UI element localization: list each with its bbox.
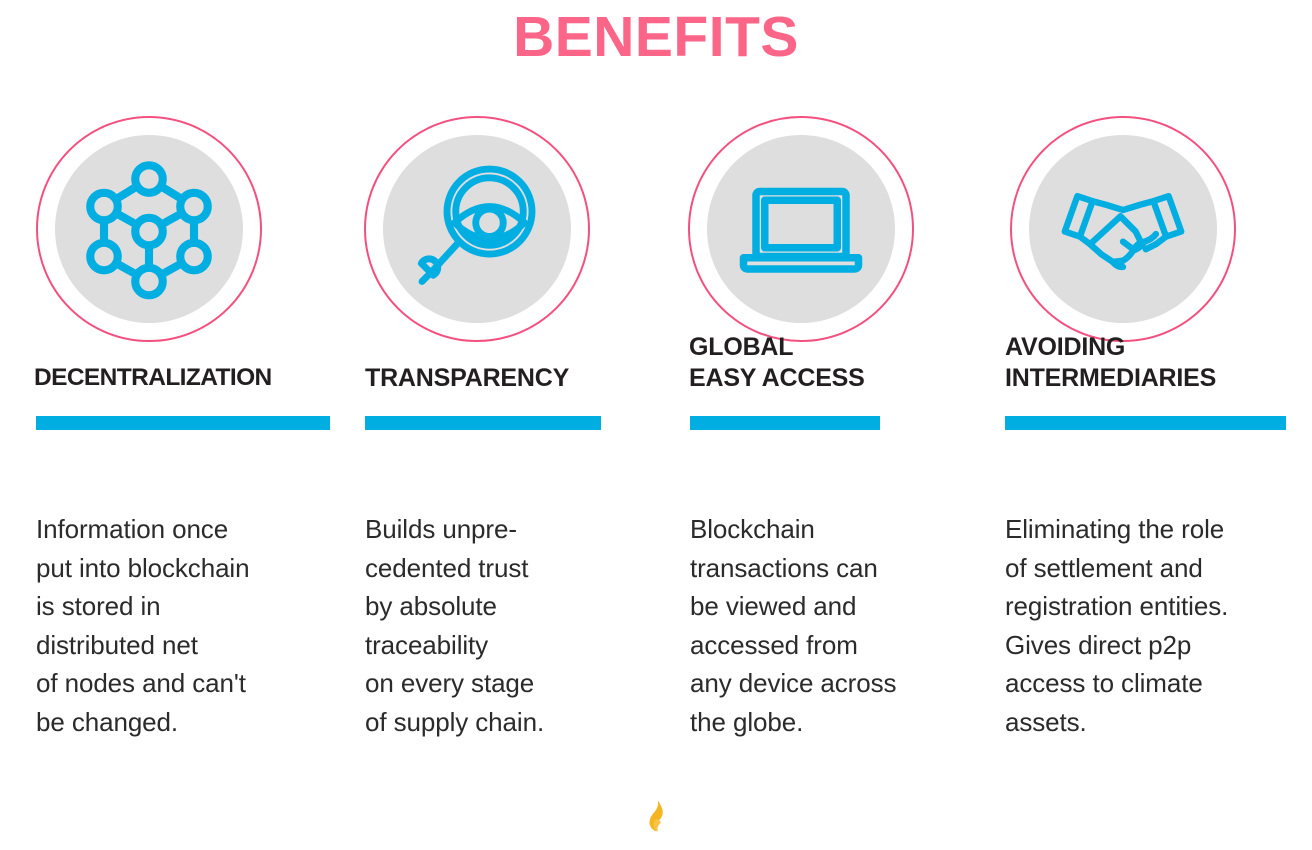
heading-underline-bar xyxy=(690,416,880,430)
benefit-body-text: Information once put into blockchain is … xyxy=(36,510,249,741)
magnifier-eye-icon xyxy=(383,135,571,323)
laptop-icon xyxy=(707,135,895,323)
icon-badge-decentralization xyxy=(36,116,262,342)
icon-badge-global-easy-access xyxy=(688,116,914,342)
benefit-card-avoiding-intermediaries: AVOIDING INTERMEDIARIES Eliminating the … xyxy=(1000,0,1290,790)
benefit-card-transparency: TRANSPARENCY Builds unpre- cedented trus… xyxy=(360,0,620,790)
icon-badge-transparency xyxy=(364,116,590,342)
benefit-heading: AVOIDING INTERMEDIARIES xyxy=(1005,332,1216,393)
benefit-heading: DECENTRALIZATION xyxy=(34,363,272,393)
benefit-heading: TRANSPARENCY xyxy=(365,363,569,394)
handshake-icon xyxy=(1029,135,1217,323)
network-nodes-icon xyxy=(55,135,243,323)
heading-underline-bar xyxy=(365,416,601,430)
benefit-body-text: Builds unpre- cedented trust by absolute… xyxy=(365,510,544,741)
benefit-body-text: Eliminating the role of settlement and r… xyxy=(1005,510,1228,741)
heading-underline-bar xyxy=(1005,416,1286,430)
benefit-card-decentralization: DECENTRALIZATION Information once put in… xyxy=(30,0,340,790)
icon-badge-avoiding-intermediaries xyxy=(1010,116,1236,342)
footer-logo-area xyxy=(0,798,1312,843)
heading-underline-bar xyxy=(36,416,330,430)
benefit-heading: GLOBAL EASY ACCESS xyxy=(689,332,865,393)
benefits-columns: DECENTRALIZATION Information once put in… xyxy=(0,0,1312,850)
flame-logo-icon xyxy=(643,798,669,843)
benefit-body-text: Blockchain transactions can be viewed an… xyxy=(690,510,896,741)
benefit-card-global-easy-access: GLOBAL EASY ACCESS Blockchain transactio… xyxy=(684,0,969,790)
